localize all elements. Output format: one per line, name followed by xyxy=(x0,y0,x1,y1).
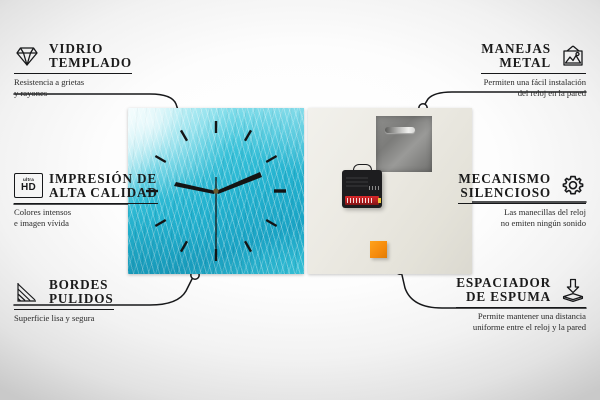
hanger-keyhole-slot xyxy=(385,127,415,133)
feature-rule xyxy=(14,309,114,310)
metal-hanger-plate xyxy=(376,116,432,172)
feature-description: Las manecillas del reloj no emiten ningú… xyxy=(458,207,586,228)
minute-hand xyxy=(216,172,262,194)
product-image xyxy=(128,108,472,274)
feature-bordes-pulidos: BORDES PULIDOS Superficie lisa y segura xyxy=(14,278,114,324)
gear-icon xyxy=(560,173,586,199)
feature-title: MECANISMO SILENCIOSO xyxy=(458,172,551,199)
feature-title: MANEJAS METAL xyxy=(481,42,551,69)
feature-title: IMPRESIÓN DE ALTA CALIDAD xyxy=(49,172,158,199)
feature-rule xyxy=(14,73,132,74)
feature-description-line2: uniforme entre el reloj y la pared xyxy=(473,322,586,332)
aa-battery xyxy=(345,196,379,205)
feature-rule xyxy=(456,307,586,308)
clock-back-panel xyxy=(308,108,472,274)
feature-description: Permiten una fácil instalación del reloj… xyxy=(481,77,586,98)
ultra-hd-icon-large-text: HD xyxy=(21,183,36,193)
feature-description-line2: e imagen vívida xyxy=(14,218,69,228)
quartz-movement xyxy=(342,170,382,208)
feature-title: ESPACIADOR DE ESPUMA xyxy=(456,276,551,303)
feature-description-line1: Colores intensos xyxy=(14,207,71,217)
feature-description: Colores intensos e imagen vívida xyxy=(14,207,158,228)
infographic-canvas: VIDRIO TEMPLADO Resistencia a grietas y … xyxy=(0,0,600,400)
feature-title-line1: BORDES xyxy=(49,277,108,292)
feature-description-line2: y rayones xyxy=(14,88,47,98)
movement-hanger-bail xyxy=(353,164,372,173)
ultra-hd-icon: ultra HD xyxy=(14,173,40,199)
feature-title-line1: ESPACIADOR xyxy=(456,275,551,290)
feature-title-line1: IMPRESIÓN DE xyxy=(49,171,157,186)
battery-terminal xyxy=(378,198,381,203)
feature-description-line1: Permite mantener una distancia xyxy=(478,311,586,321)
feature-espaciador-espuma: ESPACIADOR DE ESPUMA Permite mantener un… xyxy=(456,276,586,332)
feature-title-line1: MANEJAS xyxy=(481,41,551,56)
feature-title-line2: SILENCIOSO xyxy=(458,186,551,200)
feature-description-line1: Resistencia a grietas xyxy=(14,77,84,87)
feature-description-line2: del reloj en la pared xyxy=(518,88,586,98)
feature-description-line1: Superficie lisa y segura xyxy=(14,313,94,323)
diamond-icon xyxy=(14,43,40,69)
foam-spacer xyxy=(370,241,387,258)
movement-label xyxy=(346,175,368,187)
feature-impresion-alta-calidad: ultra HD IMPRESIÓN DE ALTA CALIDAD Color… xyxy=(14,172,158,228)
feature-title-line2: DE ESPUMA xyxy=(456,290,551,304)
hour-hand xyxy=(174,182,216,194)
feature-title-line2: TEMPLADO xyxy=(49,56,132,70)
feature-title-line1: VIDRIO xyxy=(49,41,103,56)
feature-description-line1: Las manecillas del reloj xyxy=(504,207,586,217)
feature-manejas-metal: MANEJAS METAL Permiten una fácil instala… xyxy=(481,42,586,98)
feature-description: Permite mantener una distancia uniforme … xyxy=(456,311,586,332)
feature-description: Resistencia a grietas y rayones xyxy=(14,77,132,98)
feature-title-line2: ALTA CALIDAD xyxy=(49,186,158,200)
polished-edges-icon xyxy=(14,279,40,305)
feature-rule xyxy=(481,73,586,74)
feature-title-line2: PULIDOS xyxy=(49,292,114,306)
feature-rule xyxy=(14,203,158,204)
feature-vidrio-templado: VIDRIO TEMPLADO Resistencia a grietas y … xyxy=(14,42,132,98)
wall-frame-icon xyxy=(560,43,586,69)
feature-title: BORDES PULIDOS xyxy=(49,278,114,305)
feature-mecanismo-silencioso: MECANISMO SILENCIOSO Las manecillas del … xyxy=(458,172,586,228)
clock-hands xyxy=(174,172,262,257)
foam-spacer-icon xyxy=(560,277,586,303)
movement-controls xyxy=(369,186,379,190)
hands-pivot xyxy=(213,188,218,193)
feature-description-line2: no emiten ningún sonido xyxy=(501,218,586,228)
feature-title: VIDRIO TEMPLADO xyxy=(49,42,132,69)
feature-description-line1: Permiten una fácil instalación xyxy=(484,77,586,87)
feature-title-line1: MECANISMO xyxy=(458,171,551,186)
feature-title-line2: METAL xyxy=(481,56,551,70)
feature-description: Superficie lisa y segura xyxy=(14,313,114,323)
feature-rule xyxy=(458,203,586,204)
battery-label xyxy=(347,198,374,203)
